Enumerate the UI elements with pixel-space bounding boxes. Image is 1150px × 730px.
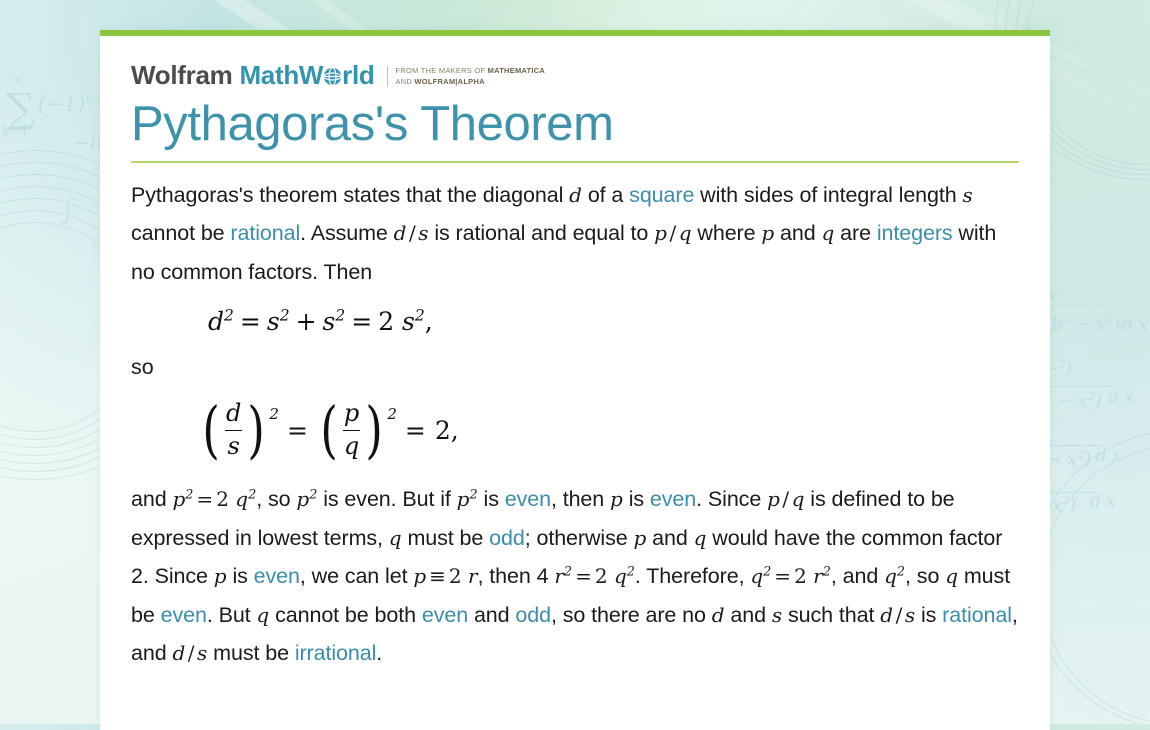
math-s: s	[963, 183, 973, 207]
link-integers[interactable]: integers	[877, 221, 953, 245]
link-odd[interactable]: odd	[515, 603, 551, 627]
background-formula	[1044, 445, 1104, 446]
text-fragment: are	[834, 221, 877, 245]
text-fragment: . Assume	[300, 221, 394, 245]
link-even[interactable]: even	[505, 487, 551, 511]
text-fragment: . But	[207, 603, 257, 627]
background-formula: ∞	[12, 73, 23, 88]
tagline-line-1: FROM THE MAKERS OF MATHEMATICA	[395, 66, 545, 75]
text-fragment: with sides of integral length	[694, 183, 962, 207]
text-fragment: must be	[207, 641, 295, 665]
math-d-over-s: d/s	[172, 641, 207, 665]
exponent: 2	[269, 405, 279, 423]
equation-1: d2=s2+s2=2 s2,	[131, 291, 1019, 334]
link-rational[interactable]: rational	[230, 221, 300, 245]
math-p: p	[610, 487, 623, 511]
logo-orld-text: rld	[342, 62, 374, 88]
text-fragment: , then	[551, 487, 610, 511]
math-expr: p2	[457, 487, 478, 511]
background-formula: ∫	[60, 192, 76, 227]
link-irrational[interactable]: irrational	[295, 641, 376, 665]
text-fragment: of a	[582, 183, 629, 207]
math-expr: q2=2 r2	[750, 564, 831, 588]
background-formula	[1044, 386, 1112, 387]
math-p: p	[633, 526, 646, 550]
equals-sign: =	[396, 416, 435, 445]
equation-value: 2	[435, 416, 451, 445]
paragraph-1: Pythagoras's theorem states that the dia…	[131, 176, 1019, 292]
math-d: d	[569, 183, 582, 207]
text-fragment: and	[725, 603, 772, 627]
math-s: s	[772, 603, 782, 627]
fraction-bar	[343, 430, 360, 432]
site-logo[interactable]: Wolfram MathW rld FROM THE MAKERS OF MAT…	[131, 58, 1019, 88]
background-formula: x2	[1048, 285, 1065, 307]
text-fragment: , so	[256, 487, 296, 511]
fraction-numerator: p	[344, 401, 359, 427]
background-formula	[1050, 492, 1096, 493]
link-even[interactable]: even	[254, 564, 300, 588]
paragraph-2: and p2=2 q2, so p2 is even. But if p2 is…	[131, 480, 1019, 673]
text-fragment: such that	[782, 603, 880, 627]
fraction-denominator: s	[228, 434, 240, 460]
tagline-line-2: AND WOLFRAM|ALPHA	[395, 77, 484, 86]
right-paren: )	[365, 411, 382, 449]
background-formula: ∑	[6, 86, 35, 132]
math-p: p	[214, 564, 227, 588]
text-fragment: , and	[831, 564, 884, 588]
math-expr: r2=2 q2	[554, 564, 635, 588]
text-fragment: , then 4	[478, 564, 555, 588]
background-formula: d x	[1090, 492, 1116, 512]
background-formula: − x2)	[1046, 448, 1091, 470]
math-q: q	[822, 221, 835, 245]
math-q: q	[945, 564, 958, 588]
text-fragment: . Since	[696, 487, 767, 511]
text-fragment: is even. But if	[317, 487, 456, 511]
text-fragment: , so there are no	[551, 603, 712, 627]
background-formula: d x	[1122, 315, 1148, 335]
math-expr: q2	[884, 564, 905, 588]
text-fragment: ; otherwise	[525, 526, 634, 550]
math-q: q	[694, 526, 707, 550]
background-formula: k=1	[2, 124, 29, 139]
math-d: d	[712, 603, 725, 627]
fraction-d-over-s: d s	[223, 401, 244, 460]
text-fragment: .	[376, 641, 382, 665]
page-title: Pythagoras's Theorem	[131, 98, 1019, 151]
title-divider	[131, 161, 1019, 163]
math-p-over-q: p/q	[767, 487, 804, 511]
equals-sign: =	[278, 416, 317, 445]
math-q: q	[256, 603, 269, 627]
text-fragment: and	[468, 603, 515, 627]
background-formula: (b2 − x2)	[1044, 313, 1120, 335]
background-formula: 2 − x2)	[1044, 390, 1102, 412]
link-square[interactable]: square	[629, 183, 694, 207]
so-label: so	[131, 357, 1019, 379]
logo-w-text: W	[299, 62, 323, 88]
math-q: q	[389, 526, 402, 550]
background-formula: x2)	[1052, 494, 1076, 516]
math-expr: p2=2 q2	[172, 487, 256, 511]
logo-math-text: Math	[239, 62, 298, 88]
math-expr: p2	[296, 487, 317, 511]
math-p: p	[761, 221, 774, 245]
logo-wolfram-text: Wolfram	[131, 62, 232, 88]
text-fragment: is	[227, 564, 254, 588]
background-formula: d x	[1096, 446, 1122, 466]
fraction-bar	[225, 430, 242, 432]
text-fragment: cannot be both	[269, 603, 422, 627]
text-fragment: Pythagoras's theorem states that the dia…	[131, 183, 569, 207]
math-expr: p≡2 r	[413, 564, 477, 588]
text-fragment: , we can let	[300, 564, 413, 588]
text-fragment: is	[478, 487, 505, 511]
background-formula	[1044, 305, 1112, 308]
text-fragment: . Therefore,	[635, 564, 750, 588]
link-even[interactable]: even	[422, 603, 468, 627]
text-fragment: and	[774, 221, 821, 245]
content-card: Wolfram MathW rld FROM THE MAKERS OF MAT…	[100, 30, 1050, 730]
logo-tagline: FROM THE MAKERS OF MATHEMATICA AND WOLFR…	[387, 66, 545, 87]
background-formula: d x	[1108, 388, 1134, 408]
link-even[interactable]: even	[650, 487, 696, 511]
math-d-over-s: d/s	[394, 221, 429, 245]
math-p-over-q: p/q	[654, 221, 691, 245]
background-swirl	[1040, 445, 1150, 724]
text-fragment: is rational and equal to	[428, 221, 654, 245]
text-fragment: cannot be	[131, 221, 230, 245]
comma: ,	[451, 416, 459, 445]
text-fragment: is	[623, 487, 650, 511]
text-fragment: , so	[905, 564, 945, 588]
text-fragment: is	[915, 603, 942, 627]
left-paren: (	[320, 411, 337, 449]
left-paren: (	[202, 411, 219, 449]
globe-icon	[323, 64, 342, 83]
logo-mathworld-text: MathW rld	[239, 62, 374, 88]
fraction-denominator: q	[344, 434, 359, 460]
fraction-numerator: d	[226, 401, 241, 427]
right-paren: )	[248, 411, 265, 449]
link-rational[interactable]: rational	[942, 603, 1012, 627]
equation-2: ( d s ) 2 = ( p q ) 2 = 2,	[131, 379, 1019, 460]
text-fragment: and	[131, 487, 172, 511]
exponent: 2	[387, 405, 397, 423]
text-fragment: must be	[402, 526, 490, 550]
text-fragment: where	[692, 221, 762, 245]
math-d-over-s: d/s	[880, 603, 915, 627]
text-fragment: and	[646, 526, 693, 550]
link-odd[interactable]: odd	[489, 526, 525, 550]
link-even[interactable]: even	[161, 603, 207, 627]
fraction-p-over-q: p q	[341, 401, 362, 460]
